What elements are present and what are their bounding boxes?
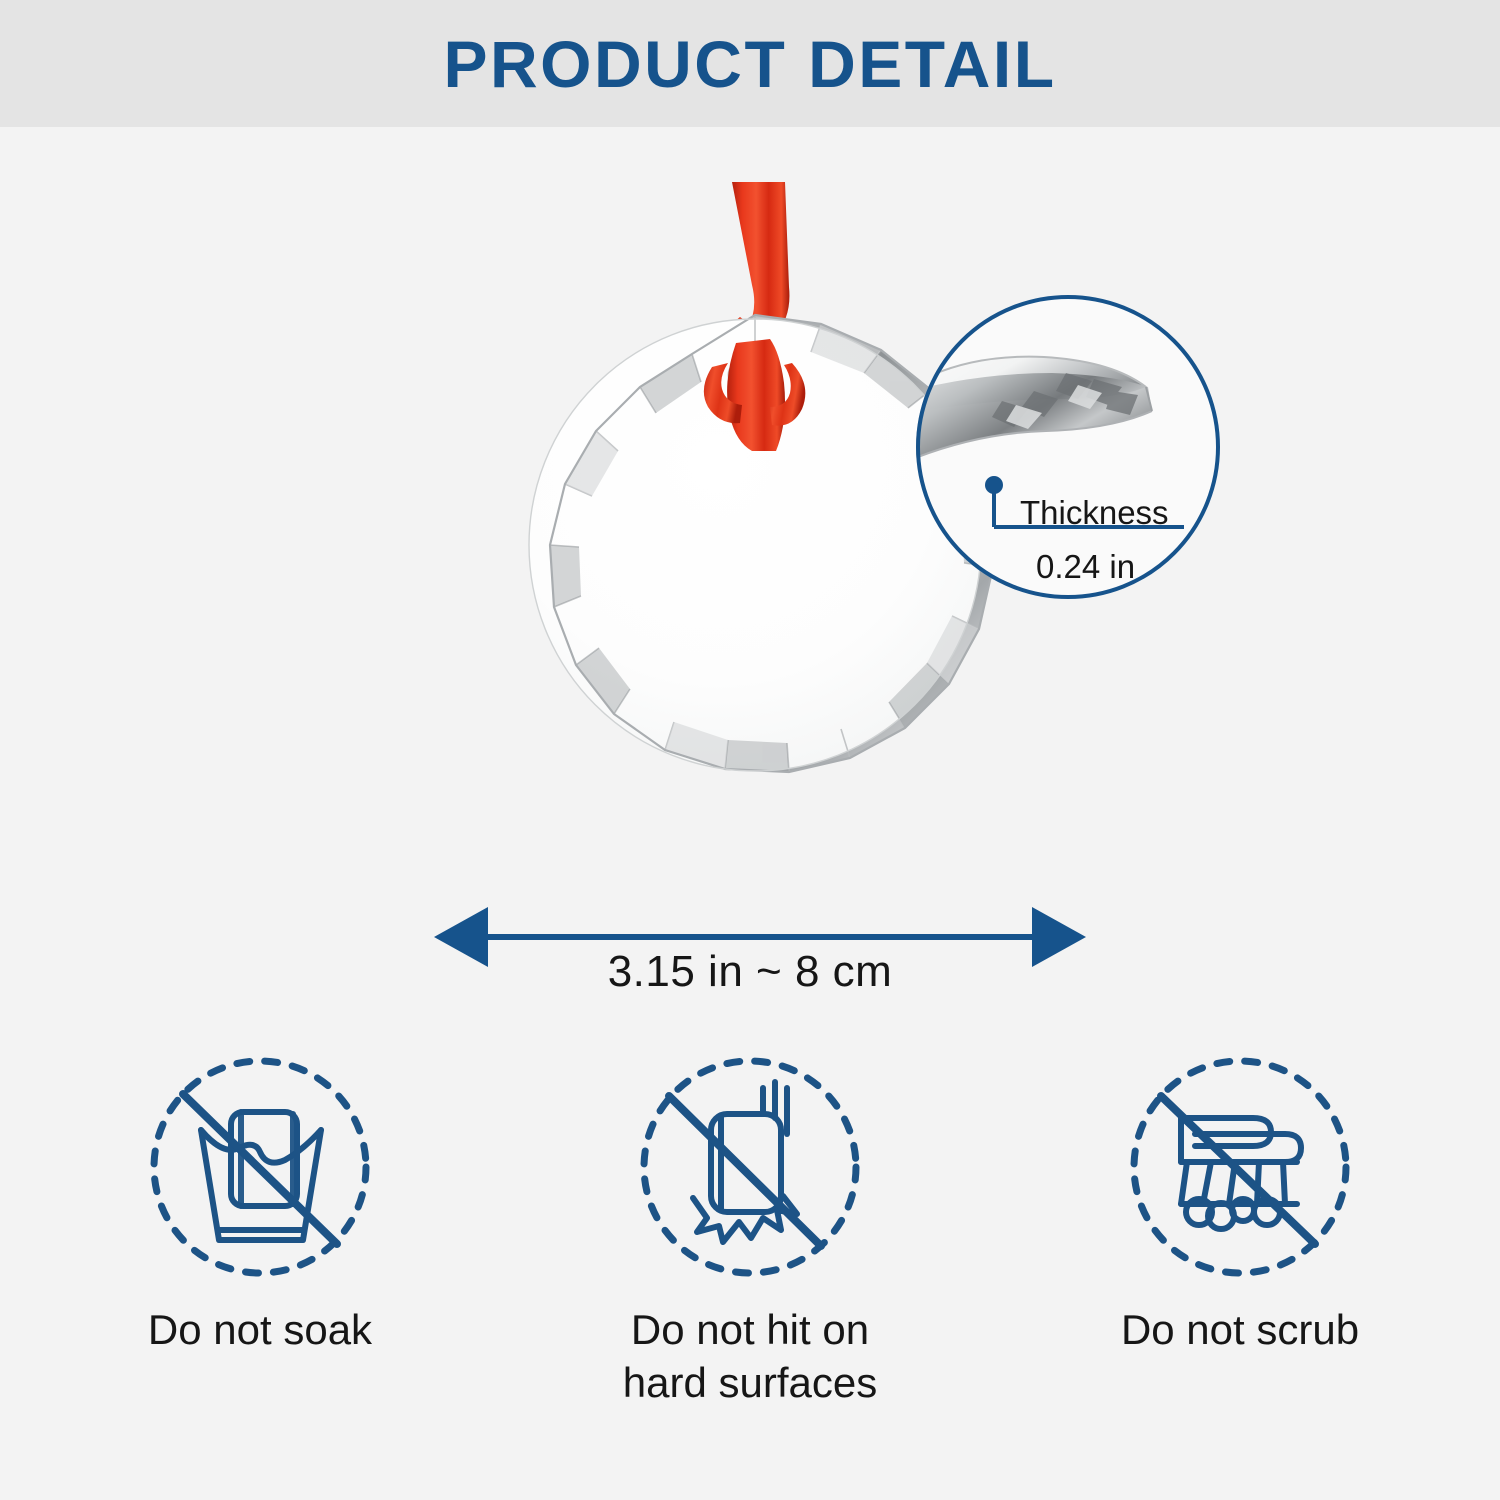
care-item-no-impact: Do not hit on hard surfaces xyxy=(585,1052,915,1409)
no-impact-icon xyxy=(635,1052,865,1282)
page-title: PRODUCT DETAIL xyxy=(443,31,1056,97)
no-scrub-icon xyxy=(1125,1052,1355,1282)
thickness-callout: Thickness 0.24 in xyxy=(916,295,1220,599)
product-stage: Thickness 0.24 in 3.15 in ~ 8 cm xyxy=(0,127,1500,1500)
care-item-no-scrub: Do not scrub xyxy=(1075,1052,1405,1357)
care-label-no-soak: Do not soak xyxy=(148,1304,372,1357)
width-dimension: 3.15 in ~ 8 cm xyxy=(0,907,1500,1027)
care-instructions-row: Do not soak Do not hit on har xyxy=(0,1052,1500,1472)
callout-magnified-view: Thickness 0.24 in xyxy=(916,295,1220,599)
care-label-no-impact: Do not hit on hard surfaces xyxy=(623,1304,877,1409)
dimension-label: 3.15 in ~ 8 cm xyxy=(0,947,1500,997)
no-soak-icon xyxy=(145,1052,375,1282)
header-band: PRODUCT DETAIL xyxy=(0,0,1500,127)
care-label-no-scrub: Do not scrub xyxy=(1121,1304,1359,1357)
thickness-label: Thickness xyxy=(1020,494,1169,532)
care-item-no-soak: Do not soak xyxy=(95,1052,425,1357)
thickness-value: 0.24 in xyxy=(1036,548,1135,586)
